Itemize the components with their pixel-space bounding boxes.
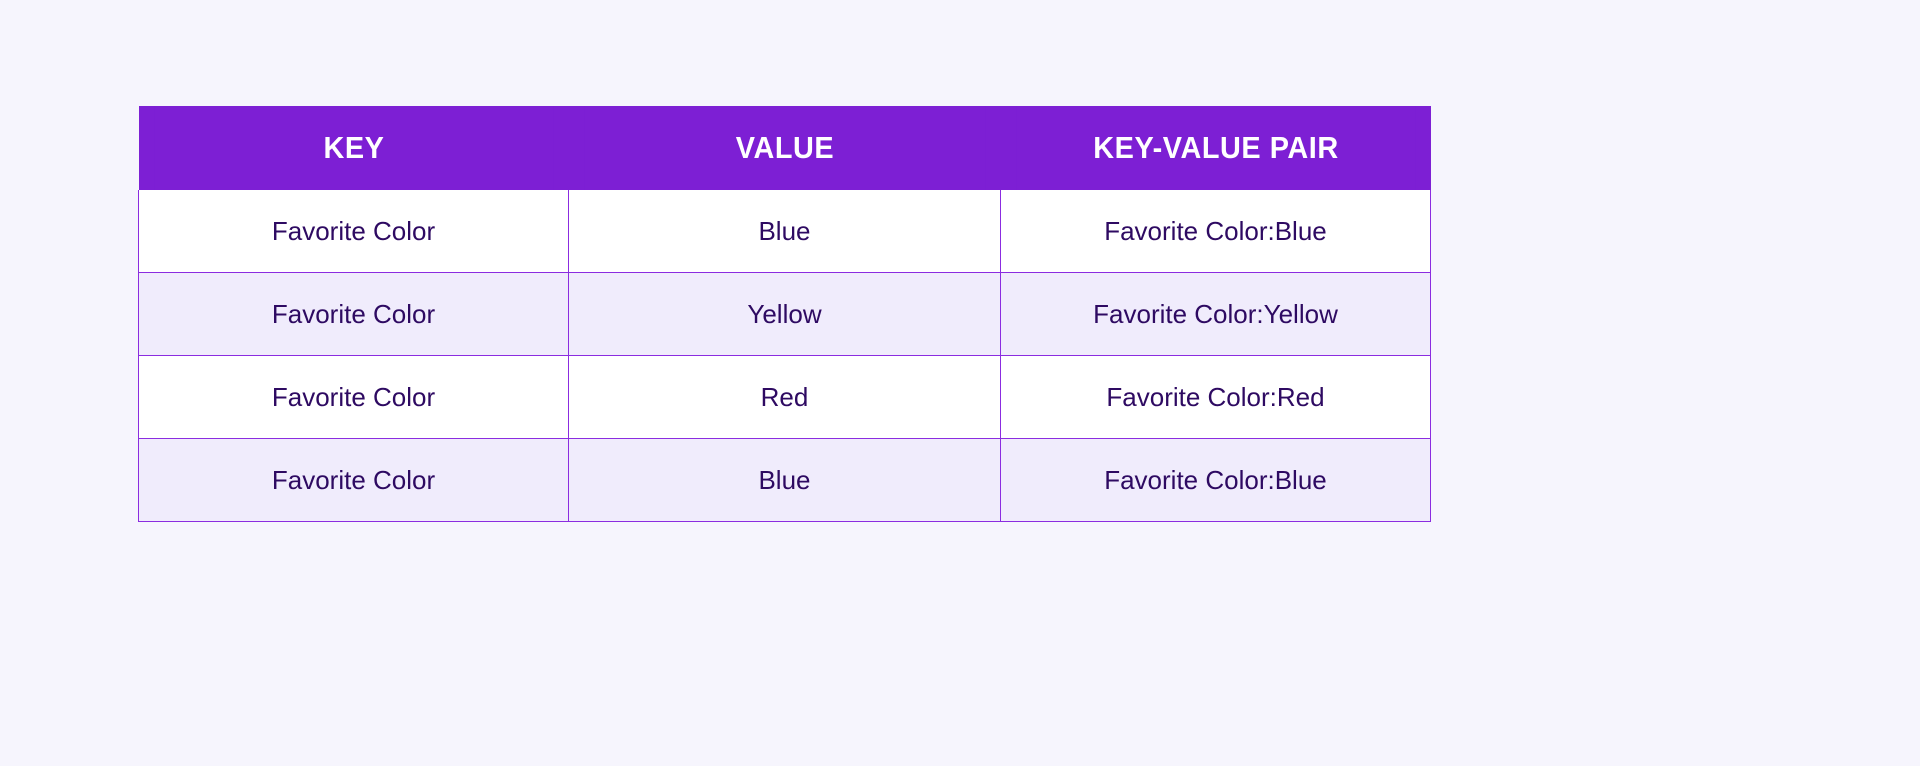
table-header: KEY VALUE KEY-VALUE PAIR	[139, 106, 1431, 190]
cell-value: Yellow	[569, 273, 1001, 356]
table-row: Favorite Color Blue Favorite Color:Blue	[139, 190, 1431, 273]
cell-pair: Favorite Color:Red	[1001, 356, 1431, 439]
page-root: KEY VALUE KEY-VALUE PAIR Favorite Color …	[0, 0, 1920, 766]
cell-pair: Favorite Color:Blue	[1001, 439, 1431, 522]
table-row: Favorite Color Blue Favorite Color:Blue	[139, 439, 1431, 522]
column-header-key: KEY	[154, 106, 554, 190]
table-row: Favorite Color Red Favorite Color:Red	[139, 356, 1431, 439]
key-value-pair-table: KEY VALUE KEY-VALUE PAIR Favorite Color …	[138, 106, 1431, 522]
table-container: KEY VALUE KEY-VALUE PAIR Favorite Color …	[138, 106, 1430, 522]
cell-value: Red	[569, 356, 1001, 439]
table-row: Favorite Color Yellow Favorite Color:Yel…	[139, 273, 1431, 356]
cell-value: Blue	[569, 439, 1001, 522]
table-header-row: KEY VALUE KEY-VALUE PAIR	[139, 106, 1431, 190]
column-header-value: VALUE	[584, 106, 986, 190]
table-body: Favorite Color Blue Favorite Color:Blue …	[139, 190, 1431, 522]
cell-value: Blue	[569, 190, 1001, 273]
cell-pair: Favorite Color:Blue	[1001, 190, 1431, 273]
cell-key: Favorite Color	[139, 356, 569, 439]
column-header-key-value-pair: KEY-VALUE PAIR	[1016, 106, 1416, 190]
cell-key: Favorite Color	[139, 439, 569, 522]
cell-key: Favorite Color	[139, 273, 569, 356]
cell-pair: Favorite Color:Yellow	[1001, 273, 1431, 356]
cell-key: Favorite Color	[139, 190, 569, 273]
